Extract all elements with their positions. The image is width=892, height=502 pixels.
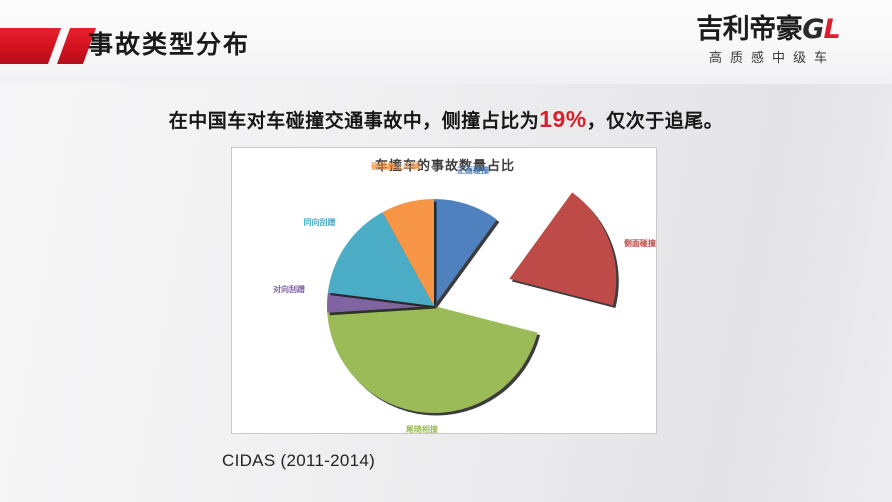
subtitle-text-after: ，仅次于追尾。 bbox=[587, 111, 724, 132]
brand-wordmark: 吉利帝豪GL bbox=[662, 14, 874, 46]
pie-slice-label-侧面碰撞: 侧面碰撞 bbox=[624, 239, 656, 249]
brand-letter-l: L bbox=[823, 14, 839, 45]
pie-slice-label-正面碰撞: 正面碰撞 bbox=[457, 166, 489, 176]
brand-wordmark-cn: 吉利帝豪 bbox=[696, 14, 802, 45]
chart-panel: 车撞车的事故数量占比 正面碰撞侧面碰撞尾随相撞对向刮蹭同向刮蹭碰撞静止车辆 bbox=[231, 147, 657, 434]
pie-slice-label-同向刮蹭: 同向刮蹭 bbox=[304, 218, 336, 228]
pie-slice-正面碰撞[interactable] bbox=[434, 199, 497, 306]
source-caption: CIDAS (2011-2014) bbox=[222, 450, 375, 472]
pie-slice-label-尾随相撞: 尾随相撞 bbox=[406, 425, 438, 435]
pie-slice-侧面碰撞[interactable] bbox=[509, 192, 616, 305]
subtitle-highlight-percent: 19% bbox=[539, 106, 587, 132]
title-accent-mark bbox=[0, 28, 96, 64]
subtitle-text-before: 在中国车对车碰撞交通事故中，侧撞占比为 bbox=[169, 111, 540, 132]
subtitle-statement: 在中国车对车碰撞交通事故中，侧撞占比为19%，仅次于追尾。 bbox=[0, 104, 892, 137]
brand-letter-g: G bbox=[802, 14, 823, 45]
page-title: 事故类型分布 bbox=[88, 26, 250, 64]
brand-wordmark-gl: GL bbox=[802, 14, 839, 45]
slide-root: 事故类型分布 吉利帝豪GL 高质感中级车 在中国车对车碰撞交通事故中，侧撞占比为… bbox=[0, 0, 892, 502]
accent-bar-left bbox=[0, 28, 61, 64]
pie-slice-尾随相撞[interactable] bbox=[327, 306, 537, 413]
pie-slice-label-碰撞静止车辆: 碰撞静止车辆 bbox=[371, 162, 419, 172]
brand-logo: 吉利帝豪GL 高质感中级车 bbox=[662, 14, 874, 66]
pie-chart: 正面碰撞侧面碰撞尾随相撞对向刮蹭同向刮蹭碰撞静止车辆 bbox=[232, 148, 658, 435]
brand-tagline: 高质感中级车 bbox=[662, 49, 874, 66]
pie-slice-label-对向刮蹭: 对向刮蹭 bbox=[273, 285, 305, 295]
